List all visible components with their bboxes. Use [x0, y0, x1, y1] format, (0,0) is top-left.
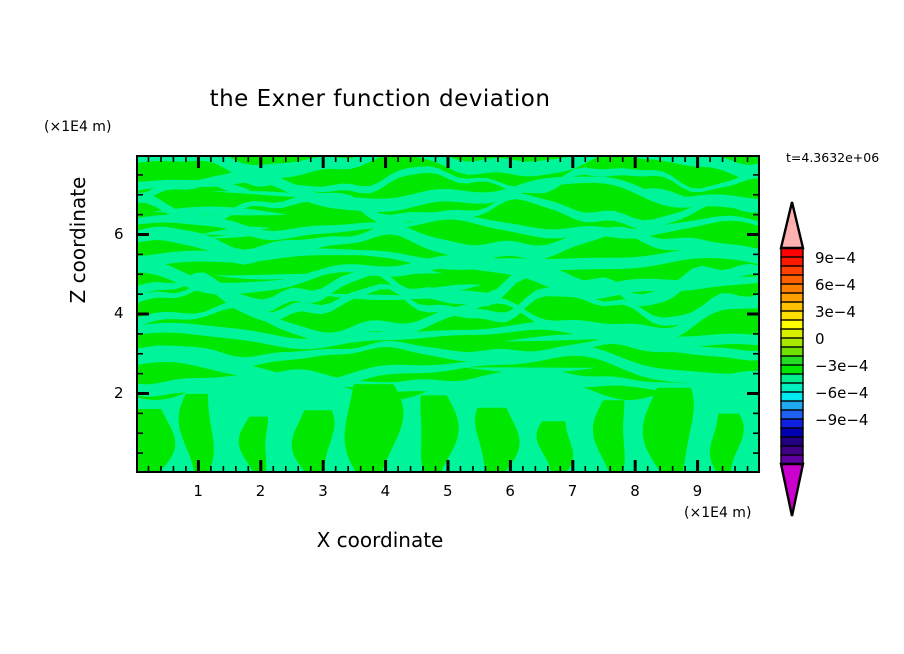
colorbar-bands — [781, 248, 803, 465]
colorbar-band — [781, 383, 803, 393]
colorbar-band — [781, 347, 803, 357]
x-tick-label: 5 — [443, 482, 453, 500]
colorbar — [778, 196, 818, 522]
x-axis-unit-label: (×1E4 m) — [684, 505, 751, 521]
colorbar-band — [781, 248, 803, 258]
x-tick-label: 1 — [193, 482, 203, 500]
colorbar-band — [781, 266, 803, 276]
x-axis-title: X coordinate — [0, 528, 760, 552]
colorbar-tick-label: 6e−4 — [815, 276, 856, 294]
x-tick-label: 4 — [381, 482, 391, 500]
page-title: the Exner function deviation — [0, 86, 760, 112]
colorbar-bottom-arrow — [781, 464, 803, 516]
colorbar-band — [781, 419, 803, 429]
colorbar-tick-label: −9e−4 — [815, 411, 868, 429]
colorbar-tick-label: 0 — [815, 330, 825, 348]
colorbar-svg — [778, 196, 818, 522]
y-tick-label: 2 — [114, 384, 124, 402]
colorbar-band — [781, 365, 803, 375]
colorbar-tick-label: −3e−4 — [815, 357, 868, 375]
y-tick-label: 6 — [114, 225, 124, 243]
y-axis-unit-label: (×1E4 m) — [44, 119, 111, 135]
colorbar-band — [781, 356, 803, 366]
x-tick-label: 7 — [568, 482, 578, 500]
colorbar-band — [781, 374, 803, 384]
x-tick-label: 8 — [630, 482, 640, 500]
x-tick-label: 9 — [693, 482, 703, 500]
colorbar-band — [781, 275, 803, 285]
colorbar-band — [781, 329, 803, 339]
x-tick-label: 3 — [318, 482, 328, 500]
colorbar-top-arrow — [781, 202, 803, 248]
timestamp-annotation: t=4.3632e+06 — [786, 150, 879, 165]
y-axis-title: Z coordinate — [66, 140, 90, 340]
colorbar-band — [781, 428, 803, 438]
x-tick-label: 2 — [256, 482, 266, 500]
colorbar-band — [781, 284, 803, 294]
colorbar-band — [781, 320, 803, 330]
colorbar-band — [781, 446, 803, 456]
x-tick-label: 6 — [505, 482, 515, 500]
contour-field — [136, 155, 760, 473]
colorbar-band — [781, 338, 803, 348]
colorbar-tick-label: 9e−4 — [815, 249, 856, 267]
colorbar-band — [781, 311, 803, 321]
colorbar-band — [781, 410, 803, 420]
contour-plot — [136, 155, 760, 473]
colorbar-band — [781, 257, 803, 267]
y-tick-label: 4 — [114, 304, 124, 322]
colorbar-band — [781, 293, 803, 303]
colorbar-band — [781, 437, 803, 447]
colorbar-band — [781, 392, 803, 402]
colorbar-band — [781, 401, 803, 411]
colorbar-tick-label: −6e−4 — [815, 384, 868, 402]
colorbar-tick-label: 3e−4 — [815, 303, 856, 321]
colorbar-band — [781, 302, 803, 312]
